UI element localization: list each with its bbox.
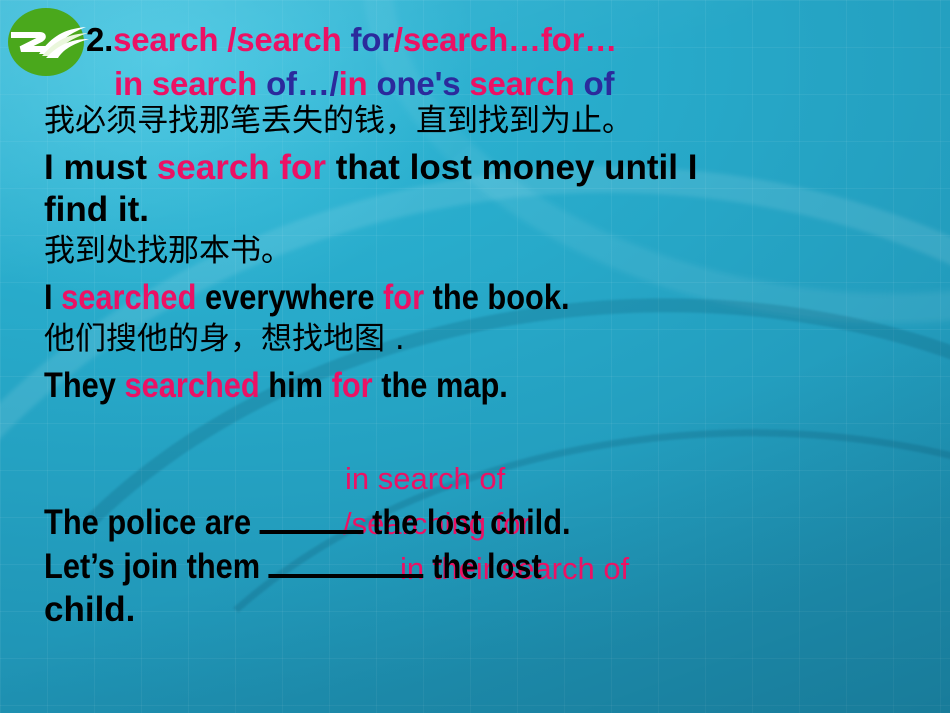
example-2-part-4: the book. <box>424 278 569 317</box>
exercise-q1-after: the lost child. <box>364 503 571 542</box>
exercise-q2-blank[interactable] <box>269 574 424 578</box>
header-l2-part-0: in search <box>114 65 266 102</box>
example-3-part-2: him <box>260 366 332 405</box>
example-1-part-1: search for <box>157 148 326 187</box>
exercise-question-1: The police are the lost child. <box>44 505 571 540</box>
example-2-part-1: searched <box>61 278 196 317</box>
example-1-english-wrap: find it. <box>44 192 149 227</box>
example-2-chinese: 我到处找那本书。 <box>44 236 292 267</box>
example-2-english: I searched everywhere for the book. <box>44 280 570 315</box>
answer-note-in-search-of: in search of <box>345 461 505 497</box>
header-l2-part-1: of…/ <box>266 65 339 102</box>
header-l2-part-4: search <box>469 65 583 102</box>
header-l2-part-5: of <box>584 65 615 102</box>
example-3-english: They searched him for the map. <box>44 368 508 403</box>
exercise-q1-before: The police are <box>44 503 260 542</box>
example-2-part-3: for <box>383 278 424 317</box>
example-1-english: I must search for that lost money until … <box>44 150 697 185</box>
header-l1-part-2: /search…for… <box>394 21 617 58</box>
exercise-question-2-wrap: child. <box>44 592 135 627</box>
example-3-part-0: They <box>44 366 124 405</box>
exercise-q2-after: the lost <box>424 547 542 586</box>
example-3-part-3: for <box>332 366 373 405</box>
header-l1-part-0: search /search <box>113 21 350 58</box>
exercise-q1-blank[interactable] <box>260 530 364 534</box>
header-number: 2. <box>86 21 113 58</box>
example-2-part-2: everywhere <box>196 278 383 317</box>
header-l2-part-3: one's <box>377 65 470 102</box>
slide-content: 2.search /search for/search…for… in sear… <box>0 0 950 713</box>
header-l1-part-1: for <box>350 21 393 58</box>
exercise-q2-before: Let’s join them <box>44 547 269 586</box>
header-l2-part-2: in <box>339 65 377 102</box>
header-line-1: 2.search /search for/search…for… <box>86 23 617 56</box>
example-2-part-0: I <box>44 278 61 317</box>
example-1-part-0: I must <box>44 148 157 187</box>
example-3-part-4: the map. <box>373 366 508 405</box>
exercise-question-2: Let’s join them the lost <box>44 549 542 584</box>
slide-canvas: 2.search /search for/search…for… in sear… <box>0 0 950 713</box>
example-1-chinese: 我必须寻找那笔丢失的钱，直到找到为止。 <box>44 106 633 137</box>
example-1-part-2: that lost money until I <box>326 148 697 187</box>
example-3-chinese: 他们搜他的身，想找地图 . <box>44 324 405 355</box>
example-3-part-1: searched <box>124 366 259 405</box>
header-line-2: in search of…/in one's search of <box>114 67 614 100</box>
